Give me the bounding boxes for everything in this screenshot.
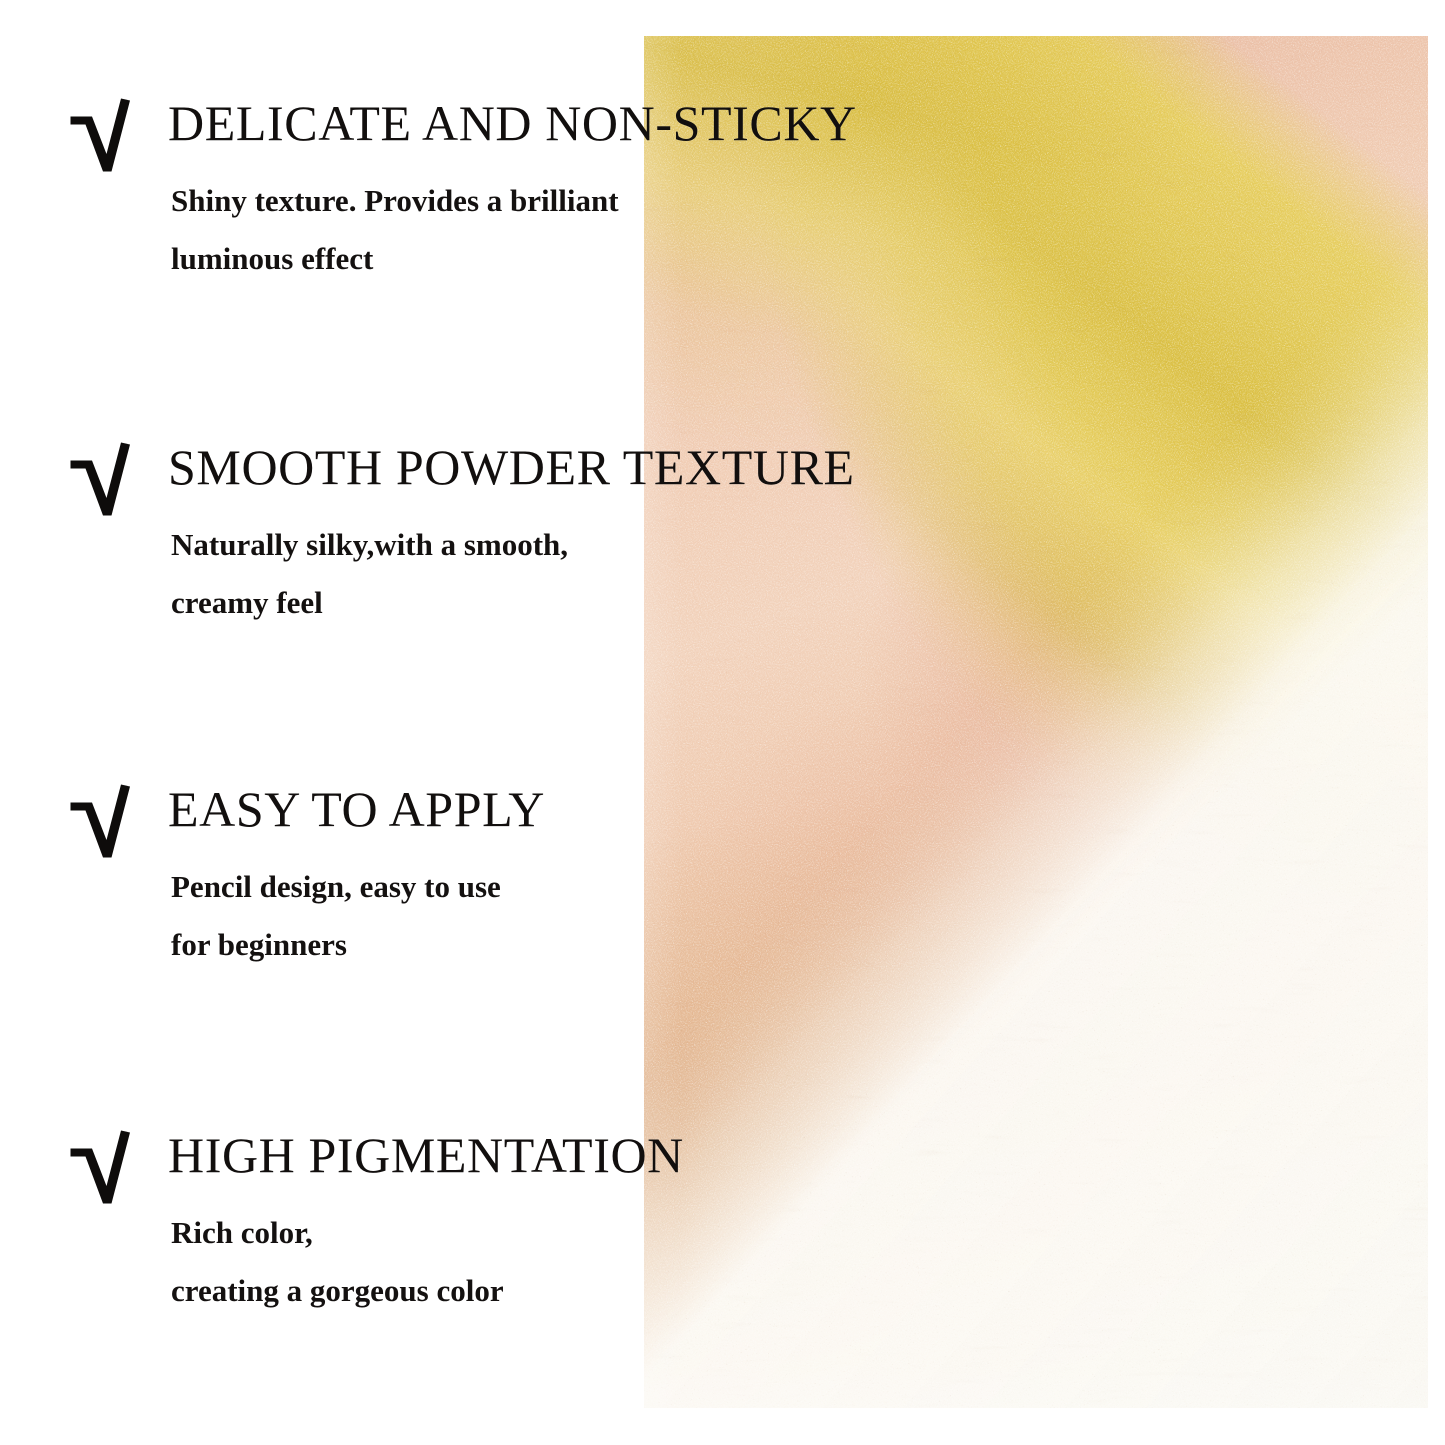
checkmark-radical-icon [68, 782, 134, 860]
swatch-edge-highlight [644, 36, 1428, 1408]
checkmark-radical-icon [68, 440, 134, 518]
infographic-page: DELICATE AND NON-STICKY Shiny texture. P… [0, 0, 1445, 1445]
checkmark-radical-icon [68, 96, 134, 174]
cosmetic-powder-swatch-photo [644, 36, 1428, 1408]
checkmark-radical-icon [68, 1128, 134, 1206]
